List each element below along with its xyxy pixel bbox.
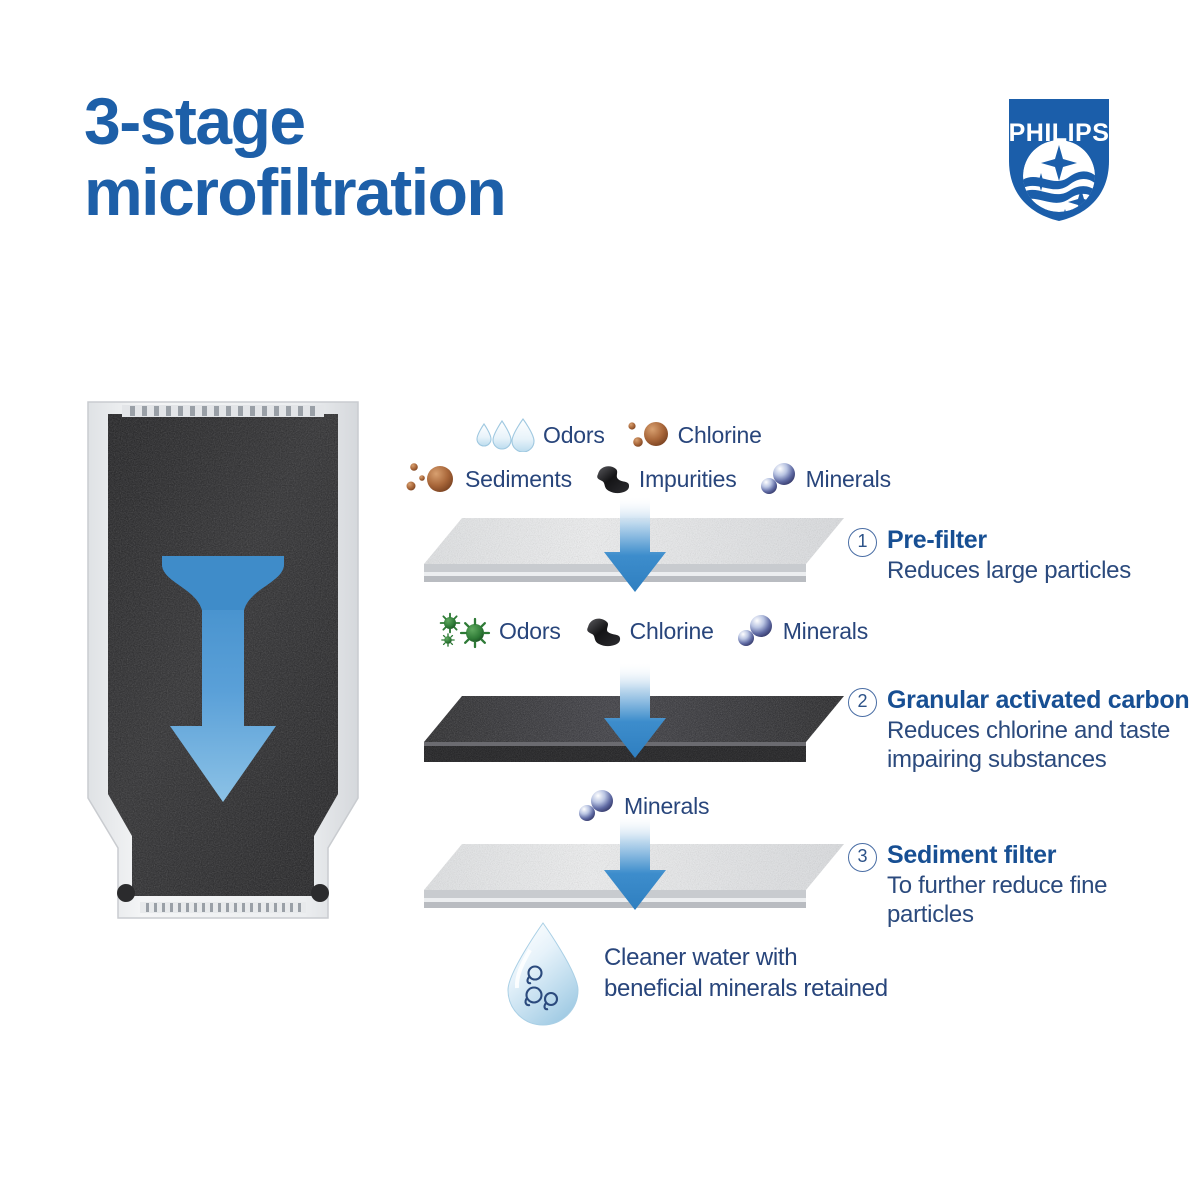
input-item-odors: Odors [472,418,605,452]
water-filter-cartridge [78,396,368,956]
right-nub [311,884,329,902]
stage-1: 1 Pre-filter Reduces large particles [848,525,1131,585]
black-blob-icon [592,462,632,496]
output-result: Cleaner water with beneficial minerals r… [500,920,888,1026]
input-row-1: Odors Chlorine [472,418,762,452]
input-label: Minerals [783,618,868,645]
input-row-2: Sediments Impurities Minerals [406,460,891,498]
input-item-chlorine-blob: Chlorine [581,614,714,648]
philips-shield-icon: PHILIPS [1007,97,1111,223]
water-drop-icon [500,920,586,1026]
input-label: Impurities [639,466,737,493]
water-drops-icon [472,418,536,452]
stage-2: 2 Granular activated carbon Reduces chlo… [848,685,1189,774]
input-label: Chlorine [678,422,762,449]
top-vents [122,405,324,417]
page-title: 3-stage microfiltration [84,86,784,229]
flow-arrow-3 [598,814,672,918]
filtration-diagram: Odors Chlorine Se [400,400,1200,1060]
stage-number: 1 [848,528,877,557]
input-label: Chlorine [630,618,714,645]
brown-particles-icon [406,460,458,498]
input-item-chlorine: Chlorine [625,418,762,452]
stage-description: Reduces large particles [887,556,1131,585]
input-item-impurities: Impurities [592,462,737,496]
stage-description: Reduces chlorine and taste impairing sub… [887,716,1189,775]
stage-description: To further reduce fine particles [887,871,1200,930]
mineral-spheres-icon [757,461,799,497]
carbon-body [98,406,353,906]
stage-3: 3 Sediment filter To further reduce fine… [848,840,1200,929]
philips-logo: PHILIPS [1007,97,1111,223]
input-label: Minerals [806,466,891,493]
stage-title: Granular activated carbon [887,685,1189,716]
input-item-minerals: Minerals [757,461,891,497]
input-label: Odors [499,618,561,645]
stage-title: Pre-filter [887,525,1131,556]
black-blob-icon [581,614,623,648]
input-item-sediments: Sediments [406,460,572,498]
flow-arrow-2 [598,662,672,766]
output-text: Cleaner water with beneficial minerals r… [604,942,888,1004]
stage-title: Sediment filter [887,840,1200,871]
input-row-3: Odors Chlorine Minerals [438,612,868,650]
brown-particles-icon [625,418,671,452]
cartridge-illustration [78,396,368,956]
green-microbe-icon [438,612,492,650]
left-nub [117,884,135,902]
stage-number: 3 [848,843,877,872]
mineral-spheres-icon [734,613,776,649]
stage-number: 2 [848,688,877,717]
input-item-minerals: Minerals [734,613,868,649]
flow-arrow-1 [598,496,672,600]
input-item-odors-microbe: Odors [438,612,561,650]
input-label: Sediments [465,466,572,493]
bottom-vents [140,902,306,913]
input-label: Odors [543,422,605,449]
